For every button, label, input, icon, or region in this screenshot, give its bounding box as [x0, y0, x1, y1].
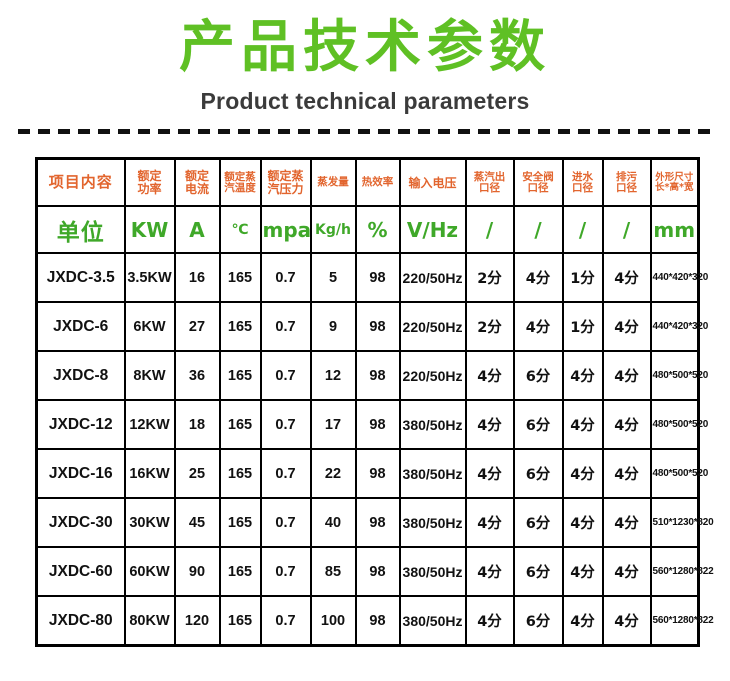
cell-current: 120: [175, 596, 220, 646]
unit-cell-drain: /: [603, 206, 651, 253]
cell-safety-valve: 6分: [514, 351, 563, 400]
cell-water-inlet: 4分: [563, 547, 603, 596]
header-line: 汽压力: [267, 182, 303, 196]
unit-cell-item: 单位: [37, 206, 125, 253]
header-line: 蒸发量: [317, 176, 349, 188]
unit-cell-rated-current: A: [175, 206, 220, 253]
header-cell-water-inlet: 进水口径: [563, 159, 603, 207]
header-cell-steam-outlet: 蒸汽出口径: [466, 159, 514, 207]
header-line: 口径: [528, 182, 549, 194]
cell-model: JXDC-80: [37, 596, 125, 646]
header-line: 口径: [572, 182, 593, 194]
dashed-divider: [18, 129, 712, 134]
cell-voltage: 220/50Hz: [400, 351, 466, 400]
page-title-cn: 产品技术参数: [0, 16, 730, 80]
cell-steam-pressure: 0.7: [261, 302, 311, 351]
header-line: 口径: [616, 182, 637, 194]
cell-steam-temp: 165: [220, 351, 261, 400]
cell-steam-outlet: 4分: [466, 498, 514, 547]
cell-voltage: 220/50Hz: [400, 253, 466, 302]
cell-dimensions: 510*1230*820: [651, 498, 699, 547]
cell-voltage: 380/50Hz: [400, 547, 466, 596]
cell-dimensions: 440*420*320: [651, 302, 699, 351]
cell-safety-valve: 4分: [514, 253, 563, 302]
table-row: JXDC-30 30KW 45 165 0.7 40 98 380/50Hz 4…: [37, 498, 699, 547]
product-spec-page: 产品技术参数 Product technical parameters: [0, 0, 730, 681]
cell-power: 30KW: [125, 498, 175, 547]
cell-drain: 4分: [603, 547, 651, 596]
cell-current: 90: [175, 547, 220, 596]
cell-efficiency: 98: [356, 253, 400, 302]
cell-steam-temp: 165: [220, 253, 261, 302]
table-row: JXDC-16 16KW 25 165 0.7 22 98 380/50Hz 4…: [37, 449, 699, 498]
cell-voltage: 380/50Hz: [400, 400, 466, 449]
unit-cell-evaporation: Kg/h: [311, 206, 356, 253]
table-row: JXDC-6 6KW 27 165 0.7 9 98 220/50Hz 2分 4…: [37, 302, 699, 351]
header-cell-evaporation: 蒸发量: [311, 159, 356, 207]
table-row: JXDC-3.5 3.5KW 16 165 0.7 5 98 220/50Hz …: [37, 253, 699, 302]
header-line: 电流: [185, 182, 209, 196]
cell-model: JXDC-3.5: [37, 253, 125, 302]
header-cell-rated-current: 额定电流: [175, 159, 220, 207]
cell-voltage: 380/50Hz: [400, 596, 466, 646]
cell-power: 6KW: [125, 302, 175, 351]
cell-steam-pressure: 0.7: [261, 351, 311, 400]
cell-evaporation: 85: [311, 547, 356, 596]
cell-safety-valve: 4分: [514, 302, 563, 351]
cell-steam-temp: 165: [220, 547, 261, 596]
cell-water-inlet: 4分: [563, 449, 603, 498]
unit-cell-dimensions: mm: [651, 206, 699, 253]
dashed-divider-wrap: [0, 129, 730, 134]
header-line: 功率: [137, 182, 161, 196]
cell-drain: 4分: [603, 596, 651, 646]
cell-model: JXDC-30: [37, 498, 125, 547]
cell-steam-pressure: 0.7: [261, 449, 311, 498]
cell-voltage: 220/50Hz: [400, 302, 466, 351]
header-cell-item: 项目内容: [37, 159, 125, 207]
header-cell-rated-power: 额定功率: [125, 159, 175, 207]
unit-cell-efficiency: %: [356, 206, 400, 253]
cell-steam-temp: 165: [220, 449, 261, 498]
cell-efficiency: 98: [356, 547, 400, 596]
cell-current: 36: [175, 351, 220, 400]
cell-drain: 4分: [603, 302, 651, 351]
cell-steam-pressure: 0.7: [261, 253, 311, 302]
header-line: 输入电压: [408, 176, 456, 190]
header-cell-voltage: 输入电压: [400, 159, 466, 207]
cell-drain: 4分: [603, 253, 651, 302]
cell-dimensions: 480*500*520: [651, 449, 699, 498]
cell-power: 3.5KW: [125, 253, 175, 302]
cell-power: 12KW: [125, 400, 175, 449]
table-header-row: 项目内容 额定功率 额定电流 额定蒸汽温度 额定蒸汽压力 蒸发量 热效率 输入电…: [37, 159, 699, 207]
cell-evaporation: 22: [311, 449, 356, 498]
cell-evaporation: 12: [311, 351, 356, 400]
cell-steam-outlet: 4分: [466, 351, 514, 400]
cell-efficiency: 98: [356, 351, 400, 400]
table-row: JXDC-80 80KW 120 165 0.7 100 98 380/50Hz…: [37, 596, 699, 646]
spec-table-wrap: 项目内容 额定功率 额定电流 额定蒸汽温度 额定蒸汽压力 蒸发量 热效率 输入电…: [0, 157, 730, 647]
unit-cell-steam-pressure: mpa: [261, 206, 311, 253]
cell-power: 80KW: [125, 596, 175, 646]
cell-evaporation: 100: [311, 596, 356, 646]
table-units-row: 单位 KW A ℃ mpa Kg/h % V/Hz / / / / mm: [37, 206, 699, 253]
table-row: JXDC-12 12KW 18 165 0.7 17 98 380/50Hz 4…: [37, 400, 699, 449]
cell-efficiency: 98: [356, 400, 400, 449]
cell-evaporation: 5: [311, 253, 356, 302]
header-line: 长*高*宽: [655, 182, 693, 193]
cell-safety-valve: 6分: [514, 400, 563, 449]
cell-evaporation: 17: [311, 400, 356, 449]
cell-water-inlet: 4分: [563, 498, 603, 547]
cell-voltage: 380/50Hz: [400, 449, 466, 498]
header-cell-safety-valve: 安全阀口径: [514, 159, 563, 207]
spec-table-body: 项目内容 额定功率 额定电流 额定蒸汽温度 额定蒸汽压力 蒸发量 热效率 输入电…: [37, 159, 699, 646]
header-cell-steam-temp: 额定蒸汽温度: [220, 159, 261, 207]
cell-power: 60KW: [125, 547, 175, 596]
cell-steam-pressure: 0.7: [261, 498, 311, 547]
cell-model: JXDC-12: [37, 400, 125, 449]
cell-dimensions: 480*500*520: [651, 351, 699, 400]
cell-evaporation: 9: [311, 302, 356, 351]
unit-cell-voltage: V/Hz: [400, 206, 466, 253]
cell-steam-outlet: 4分: [466, 400, 514, 449]
cell-safety-valve: 6分: [514, 449, 563, 498]
cell-model: JXDC-6: [37, 302, 125, 351]
cell-steam-outlet: 2分: [466, 253, 514, 302]
cell-steam-pressure: 0.7: [261, 400, 311, 449]
table-row: JXDC-8 8KW 36 165 0.7 12 98 220/50Hz 4分 …: [37, 351, 699, 400]
cell-dimensions: 440*420*320: [651, 253, 699, 302]
page-title-en: Product technical parameters: [0, 88, 730, 115]
header-cell-drain: 排污口径: [603, 159, 651, 207]
header-line: 汽温度: [224, 182, 256, 194]
cell-current: 27: [175, 302, 220, 351]
unit-cell-safety-valve: /: [514, 206, 563, 253]
cell-current: 18: [175, 400, 220, 449]
cell-safety-valve: 6分: [514, 498, 563, 547]
table-row: JXDC-60 60KW 90 165 0.7 85 98 380/50Hz 4…: [37, 547, 699, 596]
header-line: 项目内容: [49, 173, 113, 191]
cell-safety-valve: 6分: [514, 547, 563, 596]
cell-steam-temp: 165: [220, 400, 261, 449]
cell-steam-outlet: 4分: [466, 547, 514, 596]
cell-drain: 4分: [603, 498, 651, 547]
cell-model: JXDC-60: [37, 547, 125, 596]
cell-water-inlet: 4分: [563, 351, 603, 400]
cell-efficiency: 98: [356, 498, 400, 547]
cell-voltage: 380/50Hz: [400, 498, 466, 547]
cell-safety-valve: 6分: [514, 596, 563, 646]
cell-steam-pressure: 0.7: [261, 596, 311, 646]
unit-cell-water-inlet: /: [563, 206, 603, 253]
cell-dimensions: 560*1280*822: [651, 596, 699, 646]
unit-cell-steam-outlet: /: [466, 206, 514, 253]
cell-current: 16: [175, 253, 220, 302]
cell-steam-temp: 165: [220, 302, 261, 351]
cell-efficiency: 98: [356, 596, 400, 646]
cell-dimensions: 560*1280*822: [651, 547, 699, 596]
unit-cell-steam-temp: ℃: [220, 206, 261, 253]
cell-current: 45: [175, 498, 220, 547]
cell-model: JXDC-8: [37, 351, 125, 400]
cell-water-inlet: 1分: [563, 253, 603, 302]
cell-steam-outlet: 2分: [466, 302, 514, 351]
cell-efficiency: 98: [356, 449, 400, 498]
cell-water-inlet: 4分: [563, 596, 603, 646]
cell-power: 8KW: [125, 351, 175, 400]
header-cell-efficiency: 热效率: [356, 159, 400, 207]
cell-drain: 4分: [603, 400, 651, 449]
cell-drain: 4分: [603, 449, 651, 498]
cell-steam-outlet: 4分: [466, 596, 514, 646]
cell-dimensions: 480*500*520: [651, 400, 699, 449]
cell-steam-pressure: 0.7: [261, 547, 311, 596]
cell-water-inlet: 4分: [563, 400, 603, 449]
cell-evaporation: 40: [311, 498, 356, 547]
header-cell-steam-pressure: 额定蒸汽压力: [261, 159, 311, 207]
cell-steam-temp: 165: [220, 498, 261, 547]
cell-power: 16KW: [125, 449, 175, 498]
cell-model: JXDC-16: [37, 449, 125, 498]
header-line: 热效率: [362, 176, 394, 188]
title-block: 产品技术参数 Product technical parameters: [0, 0, 730, 115]
header-line: 口径: [479, 182, 500, 194]
cell-steam-temp: 165: [220, 596, 261, 646]
cell-water-inlet: 1分: [563, 302, 603, 351]
cell-current: 25: [175, 449, 220, 498]
cell-steam-outlet: 4分: [466, 449, 514, 498]
cell-drain: 4分: [603, 351, 651, 400]
unit-cell-rated-power: KW: [125, 206, 175, 253]
spec-table: 项目内容 额定功率 额定电流 额定蒸汽温度 额定蒸汽压力 蒸发量 热效率 输入电…: [35, 157, 700, 647]
header-cell-dimensions: 外形尺寸长*高*宽: [651, 159, 699, 207]
cell-efficiency: 98: [356, 302, 400, 351]
